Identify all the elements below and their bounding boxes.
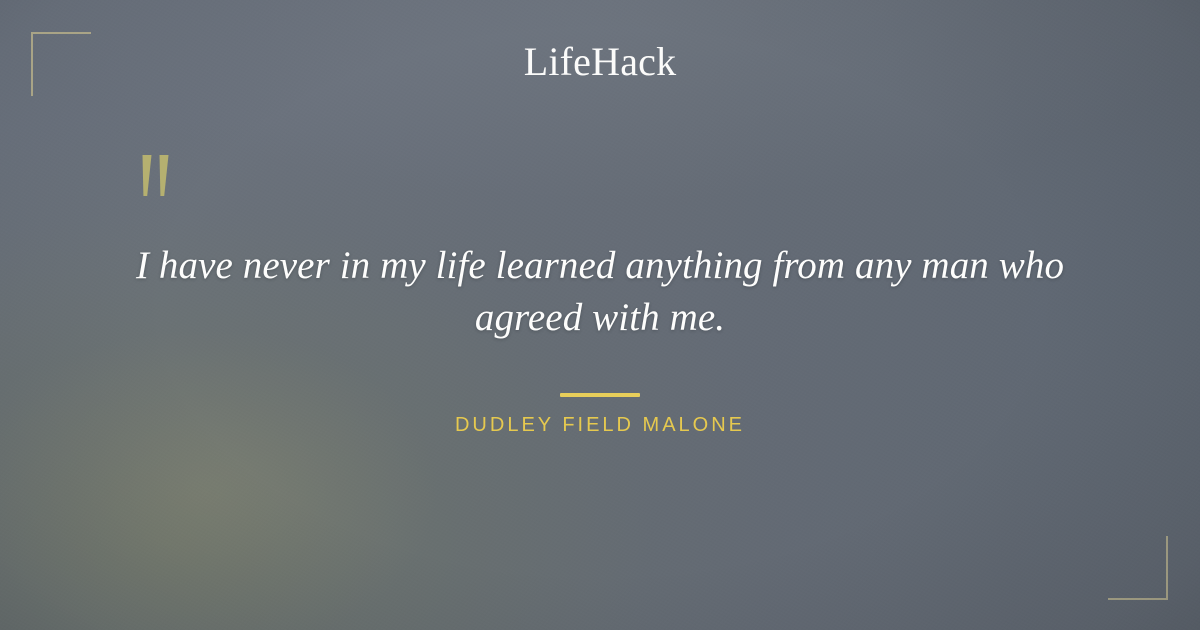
quote-card: LifeHack I have never in my life learned… [0,0,1200,630]
quote-line-2: agreed with me. [80,292,1120,344]
quote-text: I have never in my life learned anything… [80,240,1120,344]
gold-divider-rule [560,393,640,397]
divider-container [0,384,1200,402]
quote-line-1: I have never in my life learned anything… [80,240,1120,292]
author-attribution: DUDLEY FIELD MALONE [0,411,1200,439]
quotation-mark-icon [128,152,190,222]
corner-bracket-bottom-right-icon [1108,536,1168,600]
brand-logo: LifeHack [0,38,1200,86]
